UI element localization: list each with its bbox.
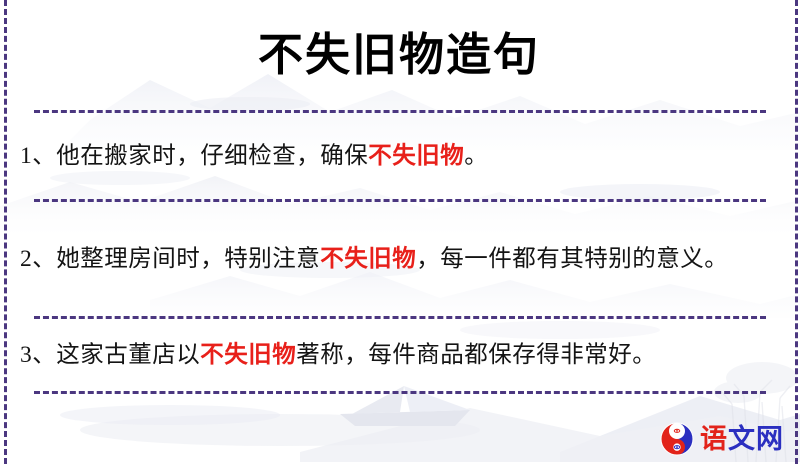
sentence-number-3: 3、	[20, 342, 56, 368]
content-column: 不失旧物造句 1、他在搬家时，仔细检查，确保不失旧物。 2、她整理房间时，特别注…	[0, 0, 800, 464]
sentence-text-1: 1、他在搬家时，仔细检查，确保不失旧物。	[20, 136, 488, 176]
sentence-after-1: 。	[464, 143, 488, 169]
brand-text: 语文网	[700, 426, 784, 453]
sentence-before-3: 这家古董店以	[56, 342, 200, 368]
sentence-worksheet-page: 不失旧物造句 1、他在搬家时，仔细检查，确保不失旧物。 2、她整理房间时，特别注…	[0, 0, 800, 464]
sentence-number-2: 2、	[20, 246, 56, 272]
highlight-phrase-3: 不失旧物	[200, 342, 296, 368]
sentence-after-3: 著称，每件商品都保存得非常好。	[296, 342, 656, 368]
title-area: 不失旧物造句	[16, 0, 782, 110]
divider-4	[34, 391, 766, 394]
sentence-text-3: 3、这家古董店以不失旧物著称，每件商品都保存得非常好。	[20, 335, 656, 375]
yinyang-circle-icon	[660, 422, 694, 456]
left-dashed-border	[4, 0, 7, 464]
sentence-text-2: 2、她整理房间时，特别注意不失旧物，每一件都有其特别的意义。	[20, 239, 728, 279]
highlight-phrase-2: 不失旧物	[320, 246, 416, 272]
sentence-after-2: ，每一件都有其特别的意义。	[416, 246, 728, 272]
right-dashed-border	[795, 0, 798, 464]
highlight-phrase-1: 不失旧物	[368, 143, 464, 169]
sentence-row-1: 1、他在搬家时，仔细检查，确保不失旧物。	[16, 113, 782, 199]
site-brand[interactable]: 语文网	[660, 422, 784, 456]
sentence-row-2: 2、她整理房间时，特别注意不失旧物，每一件都有其特别的意义。	[16, 202, 782, 316]
brand-text-first: 语	[700, 424, 728, 454]
sentence-row-3: 3、这家古董店以不失旧物著称，每件商品都保存得非常好。	[16, 319, 782, 391]
page-title: 不失旧物造句	[258, 33, 540, 78]
sentence-before-1: 他在搬家时，仔细检查，确保	[56, 143, 368, 169]
sentence-before-2: 她整理房间时，特别注意	[56, 246, 320, 272]
sentence-number-1: 1、	[20, 143, 56, 169]
brand-text-rest: 文网	[728, 424, 784, 454]
